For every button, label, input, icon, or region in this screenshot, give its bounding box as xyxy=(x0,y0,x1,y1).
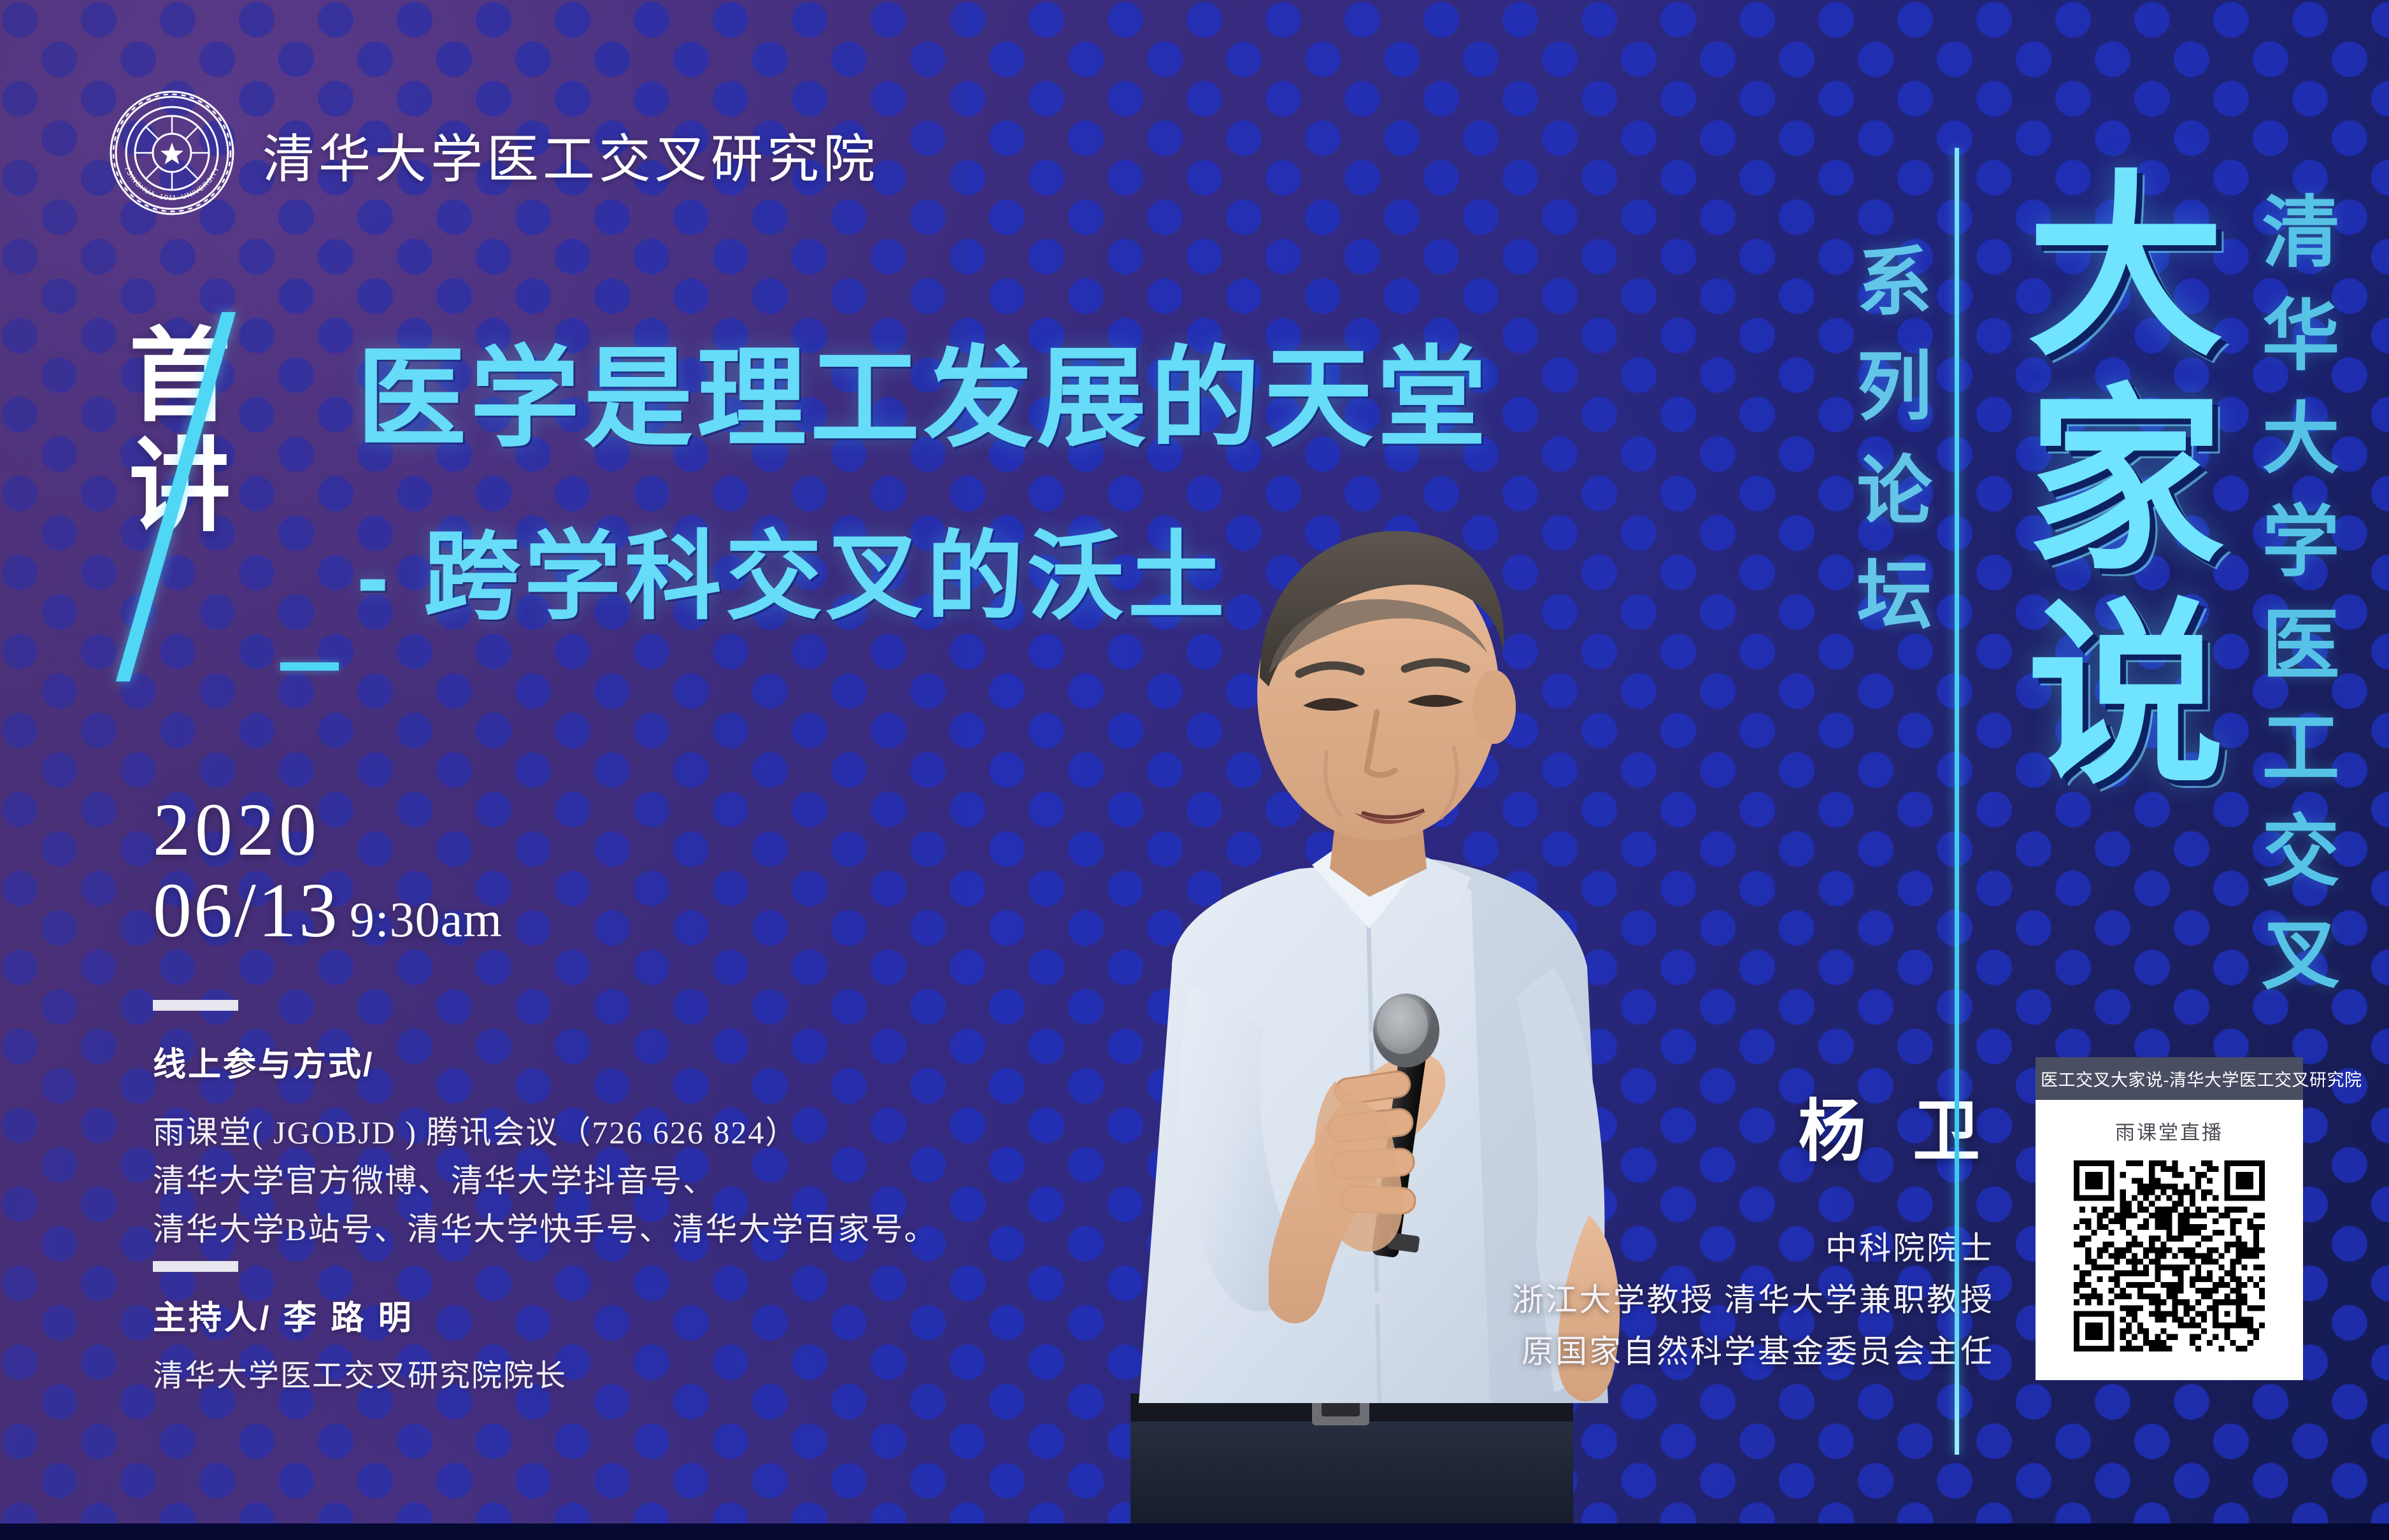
tsinghua-seal-icon: · TSINGHUA–1911–UNIVERSITY xyxy=(108,89,236,220)
section-rule xyxy=(153,1000,238,1011)
bottom-band xyxy=(0,1523,2389,1540)
host-block: 主持人/ 李 路 明 清华大学医工交叉研究院院长 xyxy=(153,1261,567,1395)
svg-text:·: · xyxy=(171,97,173,103)
speaker-credential-3: 原国家自然科学基金委员会主任 xyxy=(1512,1326,1995,1378)
talk-title-line2: - 跨学科交叉的沃土 xyxy=(357,529,1229,625)
speaker-credential-2: 浙江大学教授 清华大学兼职教授 xyxy=(1512,1274,1995,1326)
host-label: 主持人/ 李 路 明 xyxy=(153,1291,567,1339)
online-channel-line-3: 清华大学B站号、清华大学快手号、清华大学百家号。 xyxy=(153,1205,937,1253)
online-heading: 线上参与方式/ xyxy=(153,1037,937,1085)
cyan-tick-mark xyxy=(280,662,339,671)
section-rule xyxy=(153,1261,238,1272)
institute-name: 清华大学医工交叉研究院 xyxy=(262,117,879,192)
qr-label: 雨课堂直播 xyxy=(2036,1116,2303,1145)
speaker-credential-1: 中科院院士 xyxy=(1512,1223,1995,1274)
talk-title-line1: 医学是理工发展的天堂 xyxy=(357,344,1490,453)
event-year: 2020 xyxy=(153,790,503,869)
institute-vertical-label: 清华大学医工交叉 xyxy=(2238,191,2351,1016)
vertical-divider xyxy=(1955,148,1959,1455)
speaker-caption: 杨 卫 中科院院士 浙江大学教授 清华大学兼职教授 原国家自然科学基金委员会主任 xyxy=(1512,1076,1995,1378)
qr-code-image[interactable] xyxy=(2074,1343,2265,1354)
poster-canvas: · TSINGHUA–1911–UNIVERSITY 清华大学医工交叉研究院 首… xyxy=(0,0,2389,1540)
qr-panel-header: 医工交叉大家说-清华大学医工交叉研究院 xyxy=(2036,1057,2303,1100)
host-role: 清华大学医工交叉研究院院长 xyxy=(153,1350,567,1395)
event-month-day: 06/13 xyxy=(153,869,339,952)
online-channel-line-2: 清华大学官方微博、清华大学抖音号、 xyxy=(153,1157,937,1205)
event-datetime: 2020 06/13 9:30am xyxy=(153,790,503,952)
online-channel-line-1: 雨课堂( JGOBJD ) 腾讯会议（726 626 824） xyxy=(153,1108,937,1157)
speaker-name: 杨 卫 xyxy=(1512,1076,1995,1174)
qr-panel[interactable]: 医工交叉大家说-清华大学医工交叉研究院 雨课堂直播 xyxy=(2036,1057,2303,1380)
online-participation-block: 线上参与方式/ 雨课堂( JGOBJD ) 腾讯会议（726 626 824） … xyxy=(153,1000,937,1253)
event-time: 9:30am xyxy=(350,891,503,948)
series-label: 系列论坛 xyxy=(1833,242,1942,660)
poster-header: · TSINGHUA–1911–UNIVERSITY 清华大学医工交叉研究院 xyxy=(108,89,879,220)
qr-panel-body: 雨课堂直播 xyxy=(2036,1100,2303,1380)
program-title: 大家说 xyxy=(2009,162,2207,804)
first-talk-badge: 首讲 xyxy=(112,322,249,542)
